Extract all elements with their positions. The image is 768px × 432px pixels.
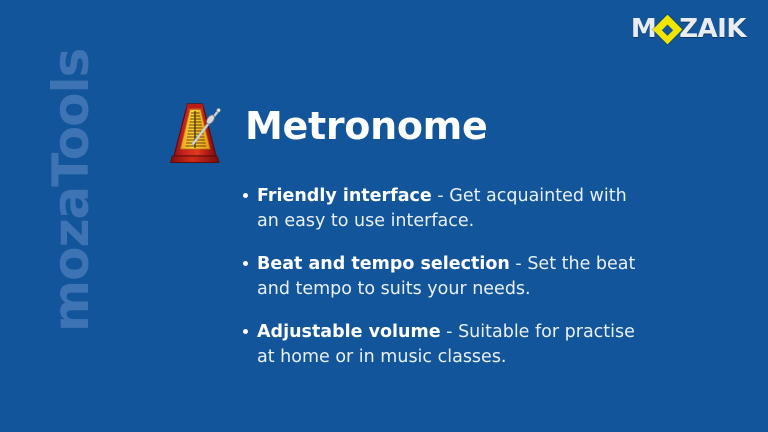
list-item: Friendly interface - Get acquainted with…: [243, 184, 643, 233]
list-item: Beat and tempo selection - Set the beat …: [243, 252, 643, 301]
page-title: Metronome: [245, 100, 487, 152]
header-row: Metronome: [163, 100, 663, 170]
bullet-icon: [243, 193, 248, 198]
bullet-icon: [243, 329, 248, 334]
feature-label: Adjustable volume: [257, 322, 441, 342]
bullet-icon: [243, 261, 248, 266]
slide-root: M ZAIK mozaTools: [0, 0, 768, 432]
feature-label: Friendly interface: [257, 186, 432, 206]
feature-separator: -: [432, 186, 449, 206]
sidebar-wordmark: mozaTools: [46, 22, 96, 332]
diamond-icon: [653, 14, 683, 44]
list-item: Adjustable volume - Suitable for practis…: [243, 320, 643, 369]
content-area: Metronome Friendly interface - Get acqua…: [163, 100, 663, 369]
feature-separator: -: [510, 254, 527, 274]
feature-label: Beat and tempo selection: [257, 254, 510, 274]
feature-list: Friendly interface - Get acquainted with…: [243, 184, 643, 369]
mozaik-logo: M ZAIK: [631, 15, 746, 43]
feature-separator: -: [441, 322, 458, 342]
logo-text-right: ZAIK: [679, 16, 746, 42]
metronome-icon: [163, 100, 227, 166]
